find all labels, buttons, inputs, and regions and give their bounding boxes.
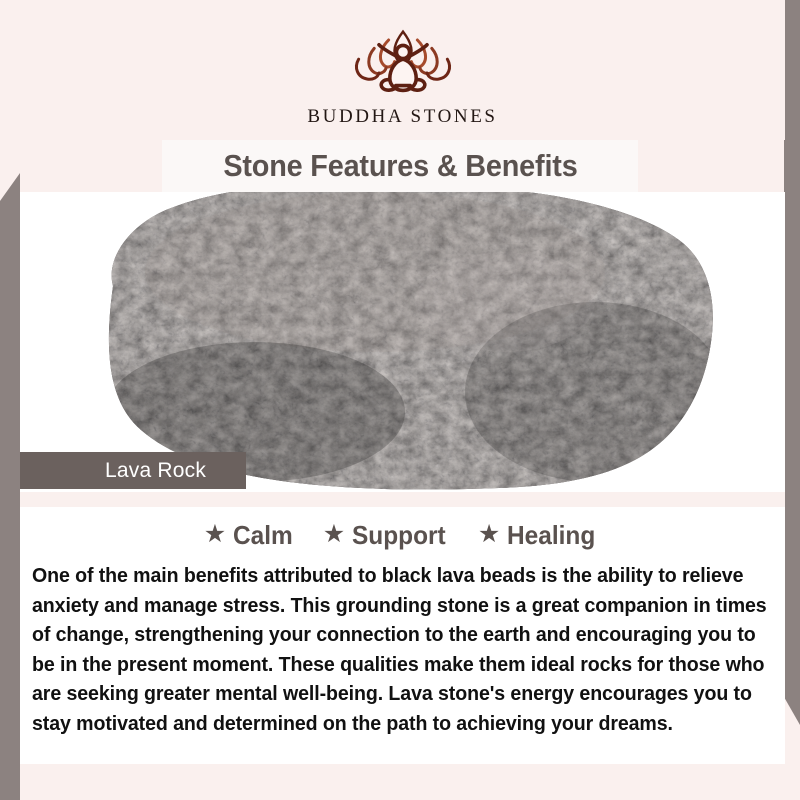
infographic-page: BUDDHA STONES Stone Features & Benefits [0,0,800,800]
stone-name-label: Lava Rock [20,452,246,489]
title-banner: Stone Features & Benefits [162,140,638,192]
benefit-item-healing: ★ Healing [478,520,601,551]
stone-name-text: Lava Rock [105,459,206,483]
brand-wordmark: BUDDHA STONES [307,106,497,128]
brand-header: BUDDHA STONES [20,0,785,140]
content-panel: ★ Calm ★ Support ★ Healing One of the ma… [20,507,785,764]
hero-image [20,192,785,492]
page-title: Stone Features & Benefits [223,148,577,184]
section-separator [20,492,785,507]
frame-accent-left [0,173,20,765]
benefit-label: Healing [507,520,595,551]
benefit-item-calm: ★ Calm [204,520,297,551]
benefits-row: ★ Calm ★ Support ★ Healing [32,520,773,551]
star-icon: ★ [478,522,500,547]
benefit-label: Calm [233,520,293,551]
star-icon: ★ [323,522,345,547]
bottom-background-strip [20,764,785,800]
lotus-meditation-figure-icon [337,22,469,100]
description-paragraph: One of the main benefits attributed to b… [32,561,782,738]
frame-accent-right [784,33,800,725]
benefit-item-support: ★ Support [323,520,452,551]
benefit-label: Support [352,520,446,551]
star-icon: ★ [204,522,226,547]
